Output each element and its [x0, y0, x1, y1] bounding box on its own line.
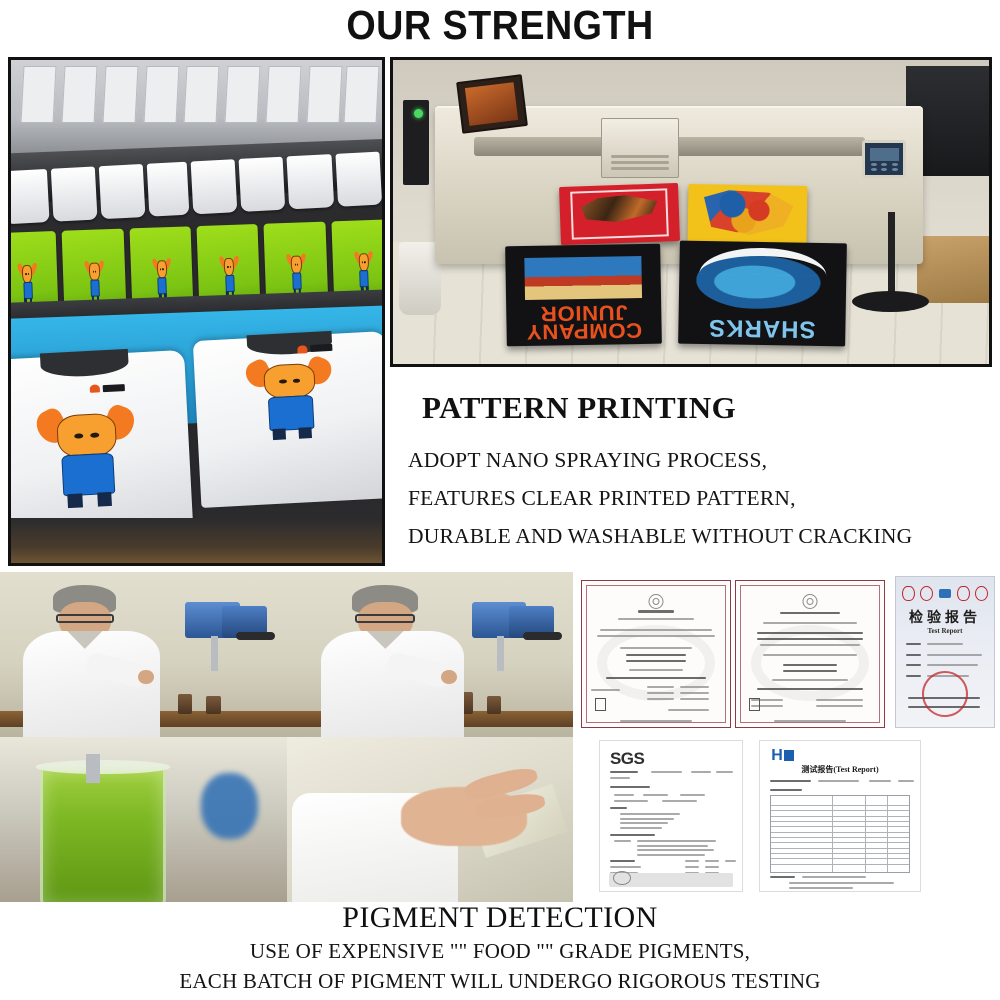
certificates-collage: 检验报告 Test Report SGS — [577, 572, 1000, 902]
stand-pole — [888, 212, 895, 303]
junior-company-print-label: COMPANY JUNIOR — [513, 302, 655, 341]
pigment-detection-text-block: PIGMENT DETECTION USE OF EXPENSIVE "" FO… — [0, 900, 1000, 1000]
pattern-printing-line-3: DURABLE AND WASHABLE WITHOUT CRACKING — [408, 524, 912, 549]
cqc-logo-icon-2 — [975, 586, 988, 601]
chemist-figure — [23, 585, 161, 737]
poster-page: OUR STRENGTH — [0, 0, 1000, 1000]
iso-certificate-right — [735, 580, 885, 728]
pigment-detection-line-2: EACH BATCH OF PIGMENT WILL UNDERGO RIGOR… — [0, 966, 1000, 996]
pigment-beaker — [40, 767, 166, 902]
lab-photo-green-pigment-beaker — [0, 737, 287, 902]
chemist-figure-2 — [321, 585, 464, 737]
lab-photo-hand-swatch — [287, 737, 574, 902]
page-title: OUR STRENGTH — [40, 0, 960, 52]
sgs-logo: SGS — [610, 749, 644, 769]
lab-photo-chemist-1 — [0, 572, 287, 737]
chinese-test-report: 检验报告 Test Report — [895, 576, 995, 728]
pattern-printing-line-1: ADOPT NANO SPRAYING PROCESS, — [408, 448, 767, 473]
photo-dtg-printer: COMPANY JUNIOR SHARKS — [390, 57, 992, 367]
cardboard-box — [917, 236, 989, 303]
test-report-title-cn: 检验报告 — [896, 607, 994, 627]
test-report-title-en: Test Report — [896, 627, 994, 635]
control-panel-screen[interactable] — [862, 140, 906, 178]
sharks-print-label: SHARKS — [688, 312, 835, 341]
ccc-logo-icon-2 — [957, 586, 970, 601]
certification-logos-row — [902, 586, 988, 601]
photo-screen-printing-carousel — [8, 57, 385, 566]
printed-shirt-red — [559, 183, 680, 245]
ccc-logo-icon — [902, 586, 915, 601]
print-head-carriage — [601, 118, 679, 178]
iso-certificate-left — [581, 580, 731, 728]
printed-shirt-yellow — [688, 184, 808, 244]
printed-shirt-junior-company: COMPANY JUNIOR — [505, 244, 662, 347]
certificate-seal-icon-2 — [803, 594, 818, 609]
pigment-detection-heading: PIGMENT DETECTION — [0, 900, 1000, 936]
lab-mixer-equipment — [178, 602, 275, 671]
tablet-display[interactable] — [456, 74, 527, 133]
certificate-seal-icon — [649, 594, 664, 609]
carousel-machine-base — [11, 518, 382, 563]
pattern-printing-heading: PATTERN PRINTING — [422, 390, 736, 426]
h-report-title: 测试报告(Test Report) — [760, 764, 920, 775]
china-mark-logo-icon — [939, 589, 952, 598]
lab-mixer-equipment-2 — [464, 602, 561, 671]
photo-lab-quad — [0, 572, 573, 902]
pigment-detection-line-1: USE OF EXPENSIVE "" FOOD "" GRADE PIGMEN… — [0, 936, 1000, 966]
test-results-table — [770, 795, 911, 873]
sgs-test-report: SGS — [599, 740, 743, 892]
cqc-logo-icon — [920, 586, 933, 601]
printed-shirt-sharks: SHARKS — [678, 241, 847, 347]
lab-photo-chemist-2 — [287, 572, 574, 737]
pattern-printing-line-2: FEATURES CLEAR PRINTED PATTERN, — [408, 486, 796, 511]
h-test-report: H 测试报告(Test Report) — [759, 740, 921, 892]
pattern-printing-text-block: PATTERN PRINTING ADOPT NANO SPRAYING PRO… — [390, 376, 1000, 566]
h-brand-logo: H — [771, 747, 794, 765]
